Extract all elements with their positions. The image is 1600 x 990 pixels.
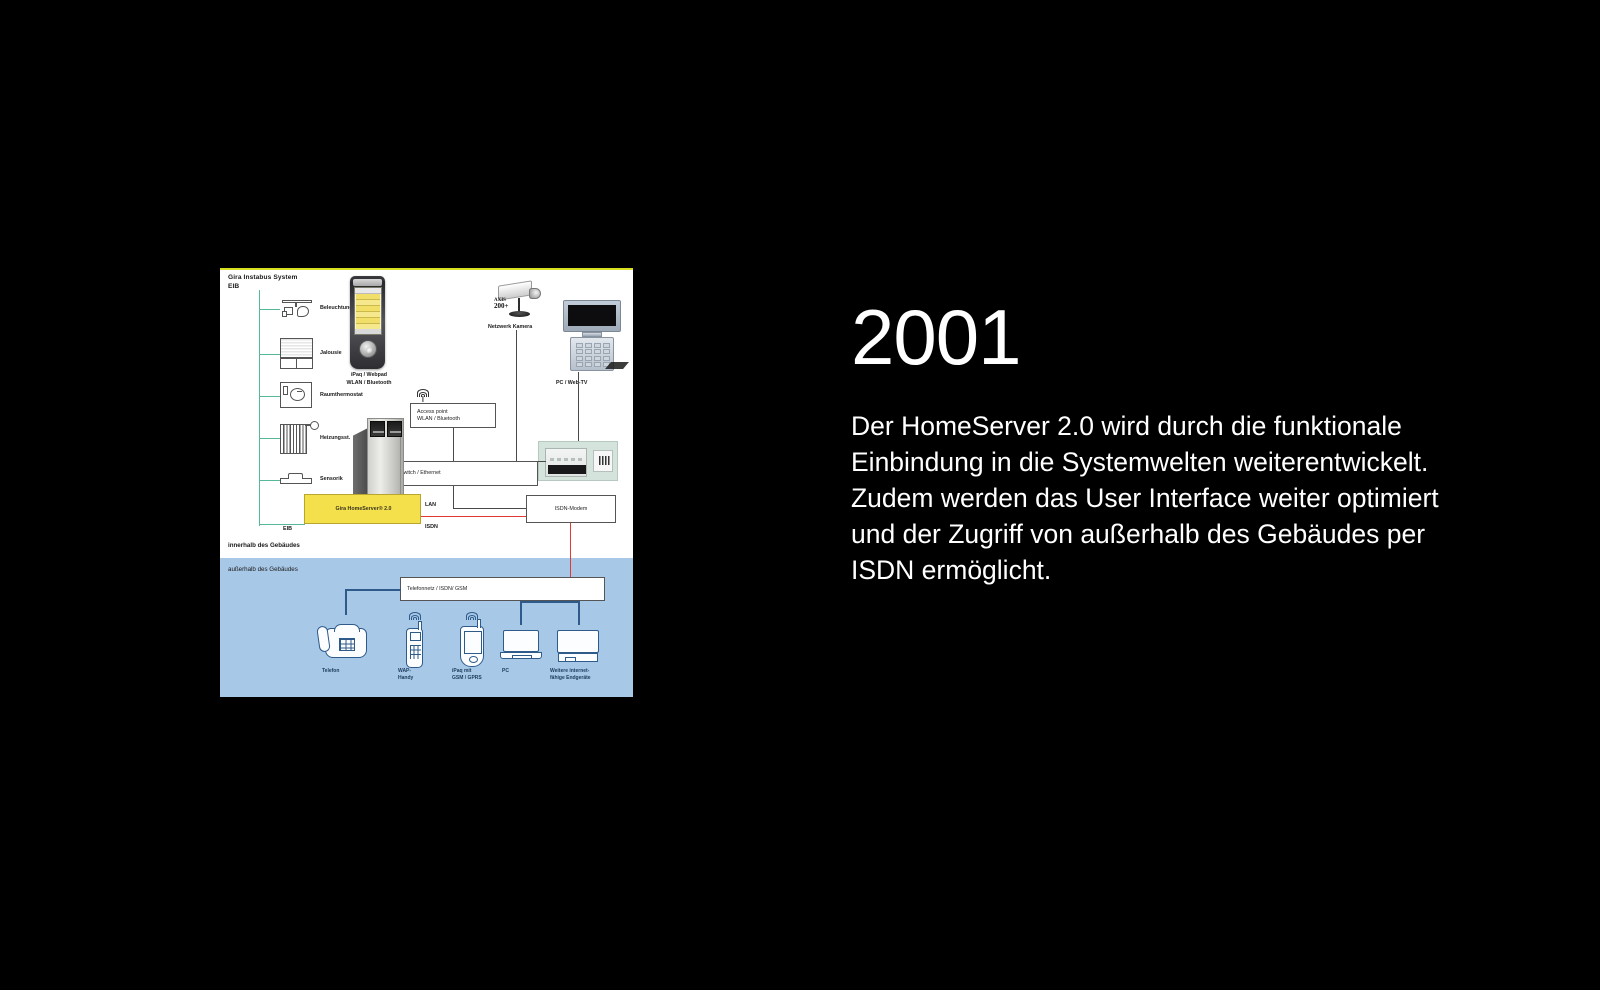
telephone-network-label: Telefonnetz / ISDN/ GSM — [407, 586, 467, 593]
camera-caption: Netzwerk Kamera — [488, 324, 532, 330]
ipaq-top-bezel — [353, 279, 382, 286]
telephone-network-box: Telefonnetz / ISDN/ GSM — [400, 577, 605, 601]
wire-pc-drop — [520, 601, 522, 625]
eib-stub-4 — [259, 438, 280, 439]
pc-webtv-image — [560, 300, 624, 372]
pc-caption: PC — [502, 668, 509, 674]
wire-ap-to-switch — [453, 428, 454, 461]
diagram-title-line1: Gira Instabus System — [228, 274, 297, 282]
radiator-icon — [280, 421, 320, 457]
blind-icon — [280, 338, 314, 370]
ipaq-gsm-icon — [460, 626, 484, 667]
telefon-caption: Telefon — [322, 668, 339, 674]
wire-switch-to-modem — [453, 508, 526, 509]
eib-stub-3 — [259, 396, 280, 397]
port-label-isdn: ISDN — [425, 524, 438, 531]
weitere-endgeraete-icon — [557, 630, 599, 663]
isdn-modem-label: ISDN-Modem — [555, 506, 588, 513]
eib-label-beleuchtung: Beleuchtung — [320, 305, 353, 312]
isdn-line-homeserver-modem — [421, 516, 526, 517]
eib-label-jalousie: Jalousie — [320, 350, 342, 357]
eib-to-homeserver — [259, 524, 305, 525]
thermostat-icon — [280, 382, 314, 410]
wire-webtv-to-panel — [578, 372, 579, 441]
wifi-antenna-icon — [416, 386, 430, 397]
text-panel: 2001 Der HomeServer 2.0 wird durch die f… — [851, 300, 1451, 588]
wifi-icon-wap — [408, 609, 422, 620]
year-heading: 2001 — [851, 300, 1451, 374]
wire-switch-down — [453, 486, 454, 508]
sensor-icon — [280, 472, 314, 486]
network-camera-image: AXIS 200+ — [492, 279, 548, 323]
isdn-line-modem-telefonnetz — [570, 523, 571, 577]
access-point-line1: Access point — [417, 409, 460, 416]
wap-handy-caption-line1: WAP- — [398, 668, 411, 674]
endgeraete-caption-line2: fähige Endgeräte — [550, 675, 591, 681]
access-point-line2: WLAN / Bluetooth — [417, 416, 460, 423]
wap-handy-icon — [406, 628, 423, 668]
eib-bus-trunk — [259, 290, 260, 526]
wire-bottom-bus — [520, 601, 580, 603]
telefon-icon — [325, 628, 367, 658]
pc-webtv-caption: PC / Web-TV — [556, 380, 587, 386]
pc-laptop-icon — [501, 630, 541, 662]
ipaq-gsm-caption-line1: iPaq mit — [452, 668, 471, 674]
ipaq-gsm-caption-line2: GSM / GPRS — [452, 675, 482, 681]
endgeraete-caption-line1: Weitere internet- — [550, 668, 589, 674]
body-paragraph: Der HomeServer 2.0 wird durch die funkti… — [851, 408, 1441, 588]
homeserver-box: Gira HomeServer® 2.0 — [304, 494, 421, 524]
eib-stub-1 — [259, 309, 280, 310]
ipaq-caption-line1: iPaq / Webpad — [346, 372, 392, 378]
camera-brand-text: AXIS 200+ — [494, 298, 509, 310]
ipaq-screen — [354, 287, 382, 335]
wire-telefon-drop — [345, 589, 347, 615]
homeserver-label: Gira HomeServer® 2.0 — [305, 506, 422, 512]
zone-label-inside: innerhalb des Gebäudes — [228, 542, 300, 550]
eib-label-raumthermostat: Raumthermostat — [320, 392, 363, 399]
ipaq-webpad-image — [350, 276, 385, 369]
wire-endgeraete-drop — [578, 601, 580, 625]
access-point-box: Access point WLAN / Bluetooth — [410, 403, 496, 428]
wall-display-panel-image — [538, 441, 618, 481]
wire-switch-to-panel — [538, 461, 546, 462]
slide-root: Gira Instabus System EIB Beleuchtung Jal… — [0, 0, 1600, 990]
system-diagram: Gira Instabus System EIB Beleuchtung Jal… — [220, 268, 633, 697]
wap-handy-caption-line2: Handy — [398, 675, 413, 681]
eib-stub-5 — [259, 480, 280, 481]
port-label-lan: LAN — [425, 502, 436, 509]
ipaq-navigation-pad — [359, 340, 377, 358]
eib-stub-2 — [259, 354, 280, 355]
isdn-modem-box: ISDN-Modem — [526, 495, 616, 523]
eib-label-sensorik: Sensorik — [320, 476, 343, 483]
zone-label-outside: außerhalb des Gebäudes — [228, 566, 298, 574]
diagram-title-line2: EIB — [228, 283, 239, 291]
eib-label-heizung: Heizungsst. — [320, 435, 350, 442]
wire-camera-to-switch — [516, 330, 517, 461]
port-label-eib: EIB — [283, 526, 292, 533]
ipaq-caption-line2: WLAN / Bluetooth — [340, 380, 398, 386]
wire-telnet-left — [345, 589, 401, 591]
spotlight-icon — [280, 298, 314, 320]
